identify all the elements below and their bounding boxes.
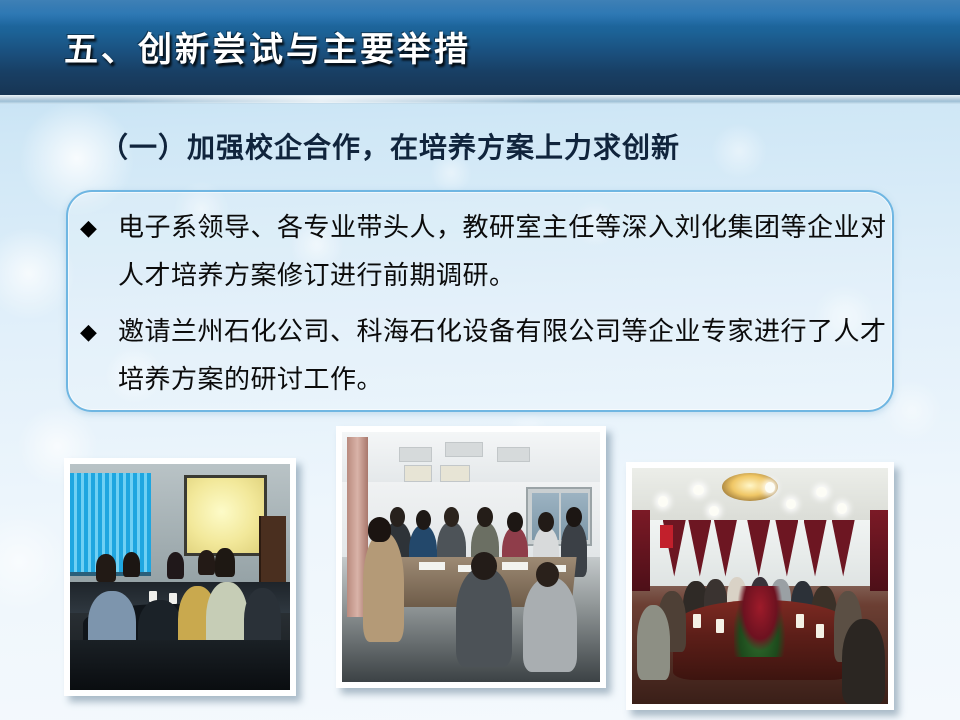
list-item-text: 电子系领导、各专业带头人，教研室主任等深入刘化集团等企业对人才培养方案修订进行前… [118, 204, 890, 300]
list-item: ◆ 电子系领导、各专业带头人，教研室主任等深入刘化集团等企业对人才培养方案修订进… [80, 204, 890, 300]
photo-meeting-room-projector [64, 458, 296, 696]
diamond-bullet-icon: ◆ [80, 204, 97, 252]
photo-image [70, 464, 290, 690]
photo-bright-meeting-table [336, 426, 606, 688]
photo-image [342, 432, 600, 682]
section-subtitle: （一）加强校企合作，在培养方案上力求创新 [100, 126, 680, 166]
list-item-text: 邀请兰州石化公司、科海石化设备有限公司等企业专家进行了人才培养方案的研讨工作。 [118, 308, 890, 404]
slide-canvas: 五、创新尝试与主要举措 （一）加强校企合作，在培养方案上力求创新 ◆ 电子系领导… [0, 0, 960, 720]
bullet-list: ◆ 电子系领导、各专业带头人，教研室主任等深入刘化集团等企业对人才培养方案修订进… [80, 204, 890, 404]
photo-image [632, 468, 888, 704]
page-title: 五、创新尝试与主要举措 [64, 22, 471, 71]
header-underline-glow [120, 96, 540, 103]
photo-conference-hall-red-curtains [626, 462, 894, 710]
list-item: ◆ 邀请兰州石化公司、科海石化设备有限公司等企业专家进行了人才培养方案的研讨工作… [80, 308, 890, 404]
diamond-bullet-icon: ◆ [80, 308, 97, 356]
